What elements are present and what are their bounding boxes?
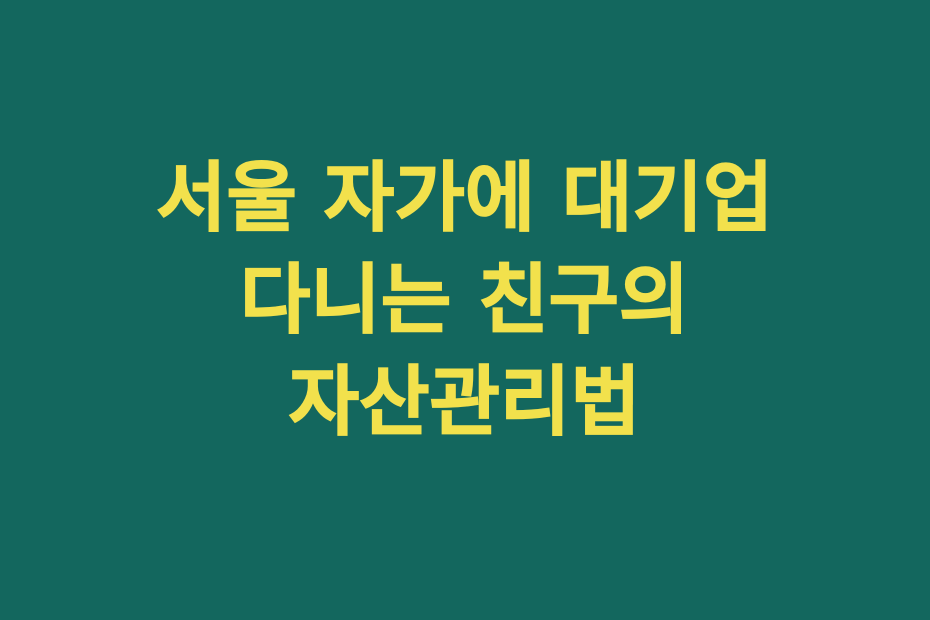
headline-container: 서울 자가에 대기업 다니는 친구의 자산관리법 — [65, 147, 865, 452]
text-card: 서울 자가에 대기업 다니는 친구의 자산관리법 — [0, 0, 930, 620]
headline-text: 서울 자가에 대기업 다니는 친구의 자산관리법 — [65, 147, 865, 452]
